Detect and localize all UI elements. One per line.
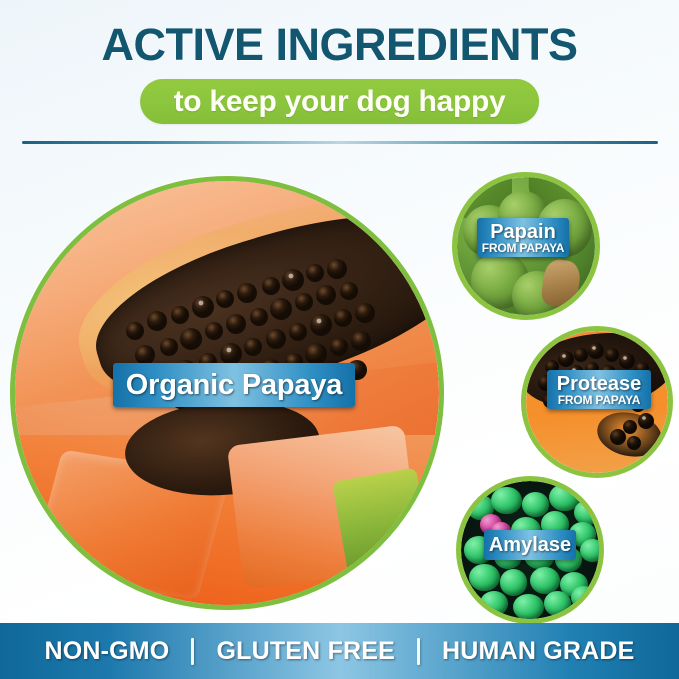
label-amylase-text: Amylase: [489, 535, 571, 556]
subtitle-pill: to keep your dog happy: [140, 79, 540, 124]
header: ACTIVE INGREDIENTS to keep your dog happ…: [0, 0, 679, 143]
page-title: ACTIVE INGREDIENTS: [0, 19, 679, 71]
label-organic-papaya: Organic Papaya: [113, 363, 355, 407]
footer-item-non-gmo: NON-GMO: [22, 638, 191, 664]
footer-claims-bar: NON-GMO GLUTEN FREE HUMAN GRADE: [0, 623, 679, 679]
footer-item-human-grade: HUMAN GRADE: [420, 638, 656, 664]
label-amylase: Amylase: [484, 530, 576, 560]
footer-separator: [191, 638, 194, 665]
label-papain-text: Papain: [490, 222, 556, 242]
label-protease-subtext: FROM PAPAYA: [558, 394, 641, 407]
label-papain: Papain FROM PAPAYA: [477, 218, 569, 257]
label-organic-papaya-text: Organic Papaya: [126, 370, 342, 400]
label-papain-subtext: FROM PAPAYA: [482, 242, 565, 255]
footer-item-gluten-free: GLUTEN FREE: [194, 638, 417, 664]
footer-separator: [417, 638, 420, 665]
header-divider: [22, 141, 658, 144]
label-protease: Protease FROM PAPAYA: [547, 370, 651, 409]
subtitle-text: to keep your dog happy: [174, 87, 506, 117]
active-ingredients-infographic: ACTIVE INGREDIENTS to keep your dog happ…: [0, 0, 679, 679]
label-protease-text: Protease: [557, 374, 642, 394]
